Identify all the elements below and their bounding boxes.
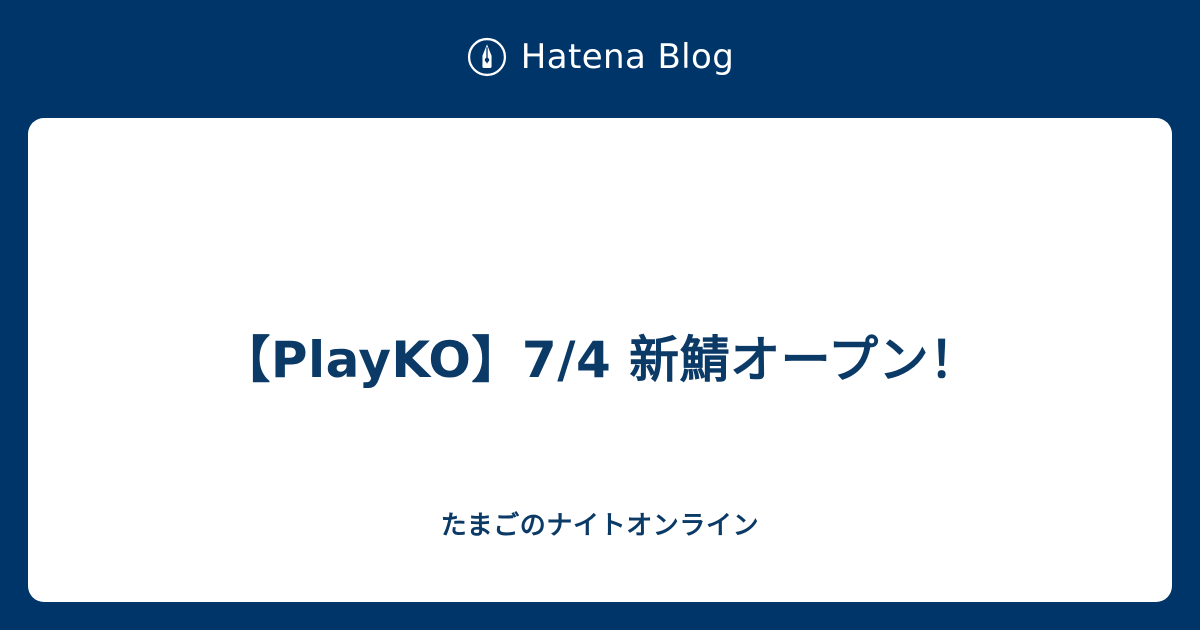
hatena-pen-nib-icon [466,36,508,78]
blog-title: たまごのナイトオンライン [28,510,1172,544]
entry-title: 【PlayKO】7/4 新鯖オープン！ [170,329,1029,392]
entry-card: 【PlayKO】7/4 新鯖オープン！ たまごのナイトオンライン [28,118,1172,602]
brand-name-label: Hatena Blog [521,40,734,74]
og-image-canvas: Hatena Blog 【PlayKO】7/4 新鯖オープン！ たまごのナイトオ… [0,0,1200,630]
brand-header: Hatena Blog [0,0,1200,118]
hatena-blog-logo[interactable]: Hatena Blog [466,36,734,78]
entry-card-content: 【PlayKO】7/4 新鯖オープン！ [28,329,1172,392]
